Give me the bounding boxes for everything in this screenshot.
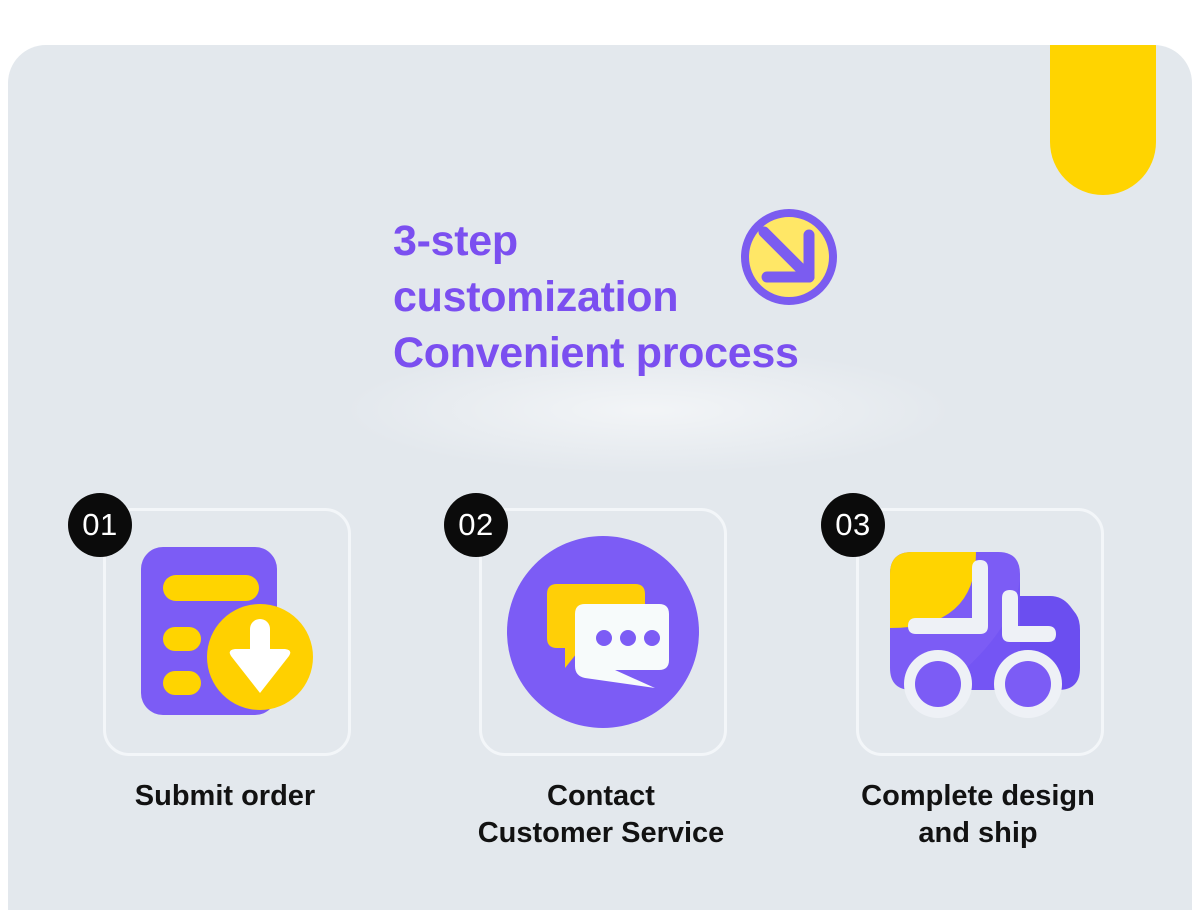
- step-caption: Submit order: [60, 778, 390, 815]
- infographic-stage: 3-step customization Convenient process …: [0, 0, 1200, 910]
- step-number-badge: 03: [821, 493, 885, 557]
- page-title-line-2: customization: [393, 269, 953, 325]
- step-caption: Complete design and ship: [813, 778, 1143, 852]
- page-title-line-1: 3-step: [393, 213, 953, 269]
- steps-row: 01 Submit order: [8, 460, 1192, 880]
- step-caption-line-1: Contact: [547, 780, 655, 812]
- chat-bubbles-icon: [479, 508, 727, 756]
- main-panel: 3-step customization Convenient process …: [8, 45, 1192, 910]
- step-caption-line-2: Customer Service: [478, 817, 725, 849]
- yellow-tab-shape: [1050, 45, 1156, 195]
- step-item[interactable]: 02 Contact Customer S: [436, 460, 766, 880]
- delivery-truck-icon: [856, 508, 1104, 756]
- step-item[interactable]: 03: [813, 460, 1143, 880]
- step-item[interactable]: 01 Submit order: [60, 460, 390, 880]
- step-caption: Contact Customer Service: [436, 778, 766, 852]
- step-caption-line-1: Submit order: [135, 780, 315, 812]
- page-title: 3-step customization Convenient process: [393, 213, 953, 381]
- step-number-badge: 02: [444, 493, 508, 557]
- step-caption-line-2: and ship: [918, 817, 1037, 849]
- step-number-badge: 01: [68, 493, 132, 557]
- diagonal-arrow-badge-icon: [737, 205, 841, 309]
- page-title-line-3: Convenient process: [393, 325, 953, 381]
- step-caption-line-1: Complete design: [861, 780, 1095, 812]
- submit-order-document-icon: [103, 508, 351, 756]
